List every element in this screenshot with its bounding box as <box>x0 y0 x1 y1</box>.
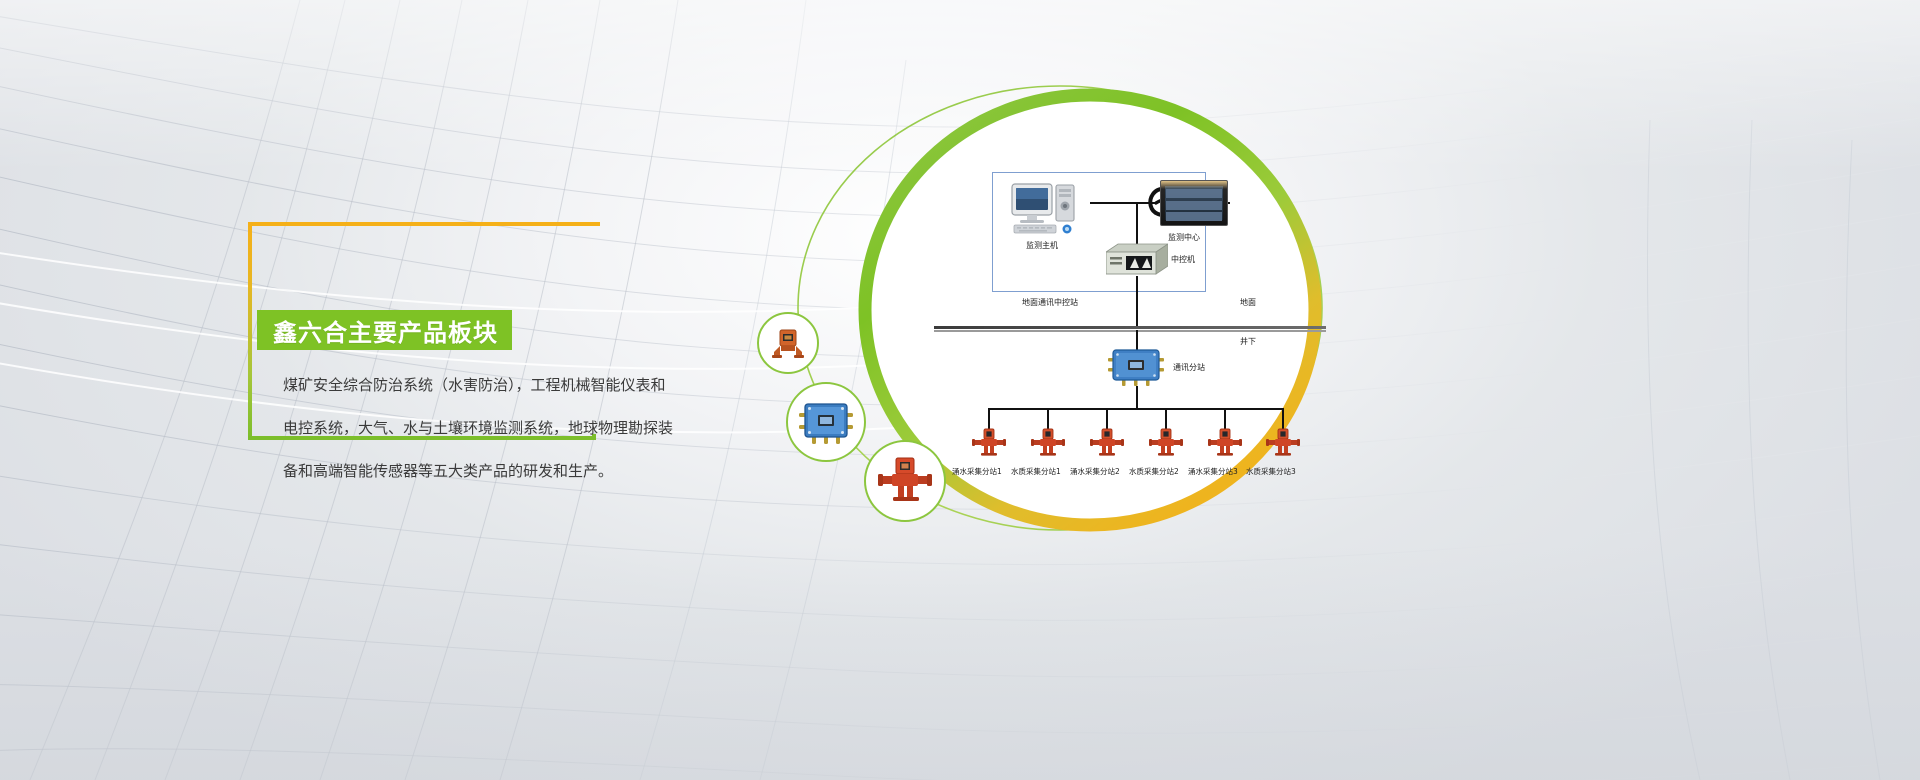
monitor-center-icon <box>1160 180 1228 226</box>
link-server-to-ground <box>1136 276 1138 326</box>
product-bubble-orange[interactable] <box>757 312 819 374</box>
underground-zone-label: 井下 <box>1240 336 1256 347</box>
page-title: 鑫六合主要产品板块 <box>273 313 498 348</box>
station-label-4: 水质采集分站2 <box>1129 466 1179 477</box>
valve-red-icon <box>876 456 934 506</box>
drop-line-6 <box>1282 408 1284 430</box>
link-substation-to-bus <box>1136 386 1138 408</box>
drop-line-4 <box>1165 408 1167 430</box>
central-controller-label: 中控机 <box>1171 254 1195 265</box>
central-controller-icon <box>1106 242 1168 276</box>
product-bubble-blue[interactable] <box>786 382 866 462</box>
surface-zone-label: 地面 <box>1240 297 1256 308</box>
station-icon-2 <box>1031 428 1065 462</box>
valve-orange-icon <box>768 326 808 360</box>
station-icon-6 <box>1266 428 1300 462</box>
drop-line-3 <box>1106 408 1108 430</box>
frame-top-line <box>248 222 600 226</box>
station-label-1: 涌水采集分站1 <box>952 466 1002 477</box>
product-bubble-red[interactable] <box>864 440 946 522</box>
station-icon-1 <box>972 428 1006 462</box>
surface-control-station-label: 地面通讯中控站 <box>1022 297 1078 308</box>
frame-left-line <box>248 222 252 440</box>
station-bus-line <box>988 408 1284 410</box>
station-label-6: 水质采集分站3 <box>1246 466 1296 477</box>
station-label-2: 水质采集分站1 <box>1011 466 1061 477</box>
monitor-host-label: 监测主机 <box>1026 240 1058 251</box>
junction-box-blue-icon <box>799 400 853 444</box>
station-label-3: 涌水采集分站2 <box>1070 466 1120 477</box>
station-icon-4 <box>1149 428 1183 462</box>
station-label-5: 涌水采集分站3 <box>1188 466 1238 477</box>
station-icon-3 <box>1090 428 1124 462</box>
description-line-1: 煤矿安全综合防治系统（水害防治），工程机械智能仪表和 <box>283 370 703 400</box>
ground-line <box>934 326 1326 329</box>
drop-line-5 <box>1224 408 1226 430</box>
monitor-host-icon <box>1010 182 1084 238</box>
description-line-2: 电控系统，大气、水与土壤环境监测系统，地球物理勘探装 <box>283 413 703 443</box>
drop-line-1 <box>988 408 990 430</box>
drop-line-2 <box>1047 408 1049 430</box>
description-line-3: 备和高端智能传感器等五大类产品的研发和生产。 <box>283 456 703 486</box>
system-architecture-diagram: 监测主机 监测中心 中控机 地面通讯中控站 地面 井下 <box>930 140 1330 480</box>
ground-line-shadow <box>934 330 1326 332</box>
product-description: 煤矿安全综合防治系统（水害防治），工程机械智能仪表和 电控系统，大气、水与土壤环… <box>283 370 703 499</box>
monitor-center-label: 监测中心 <box>1168 232 1200 243</box>
page-title-banner: 鑫六合主要产品板块 <box>257 310 512 350</box>
comm-substation-icon <box>1108 346 1164 386</box>
station-icon-5 <box>1208 428 1242 462</box>
link-cloud-to-server <box>1136 204 1138 244</box>
comm-substation-label: 通讯分站 <box>1173 362 1205 373</box>
